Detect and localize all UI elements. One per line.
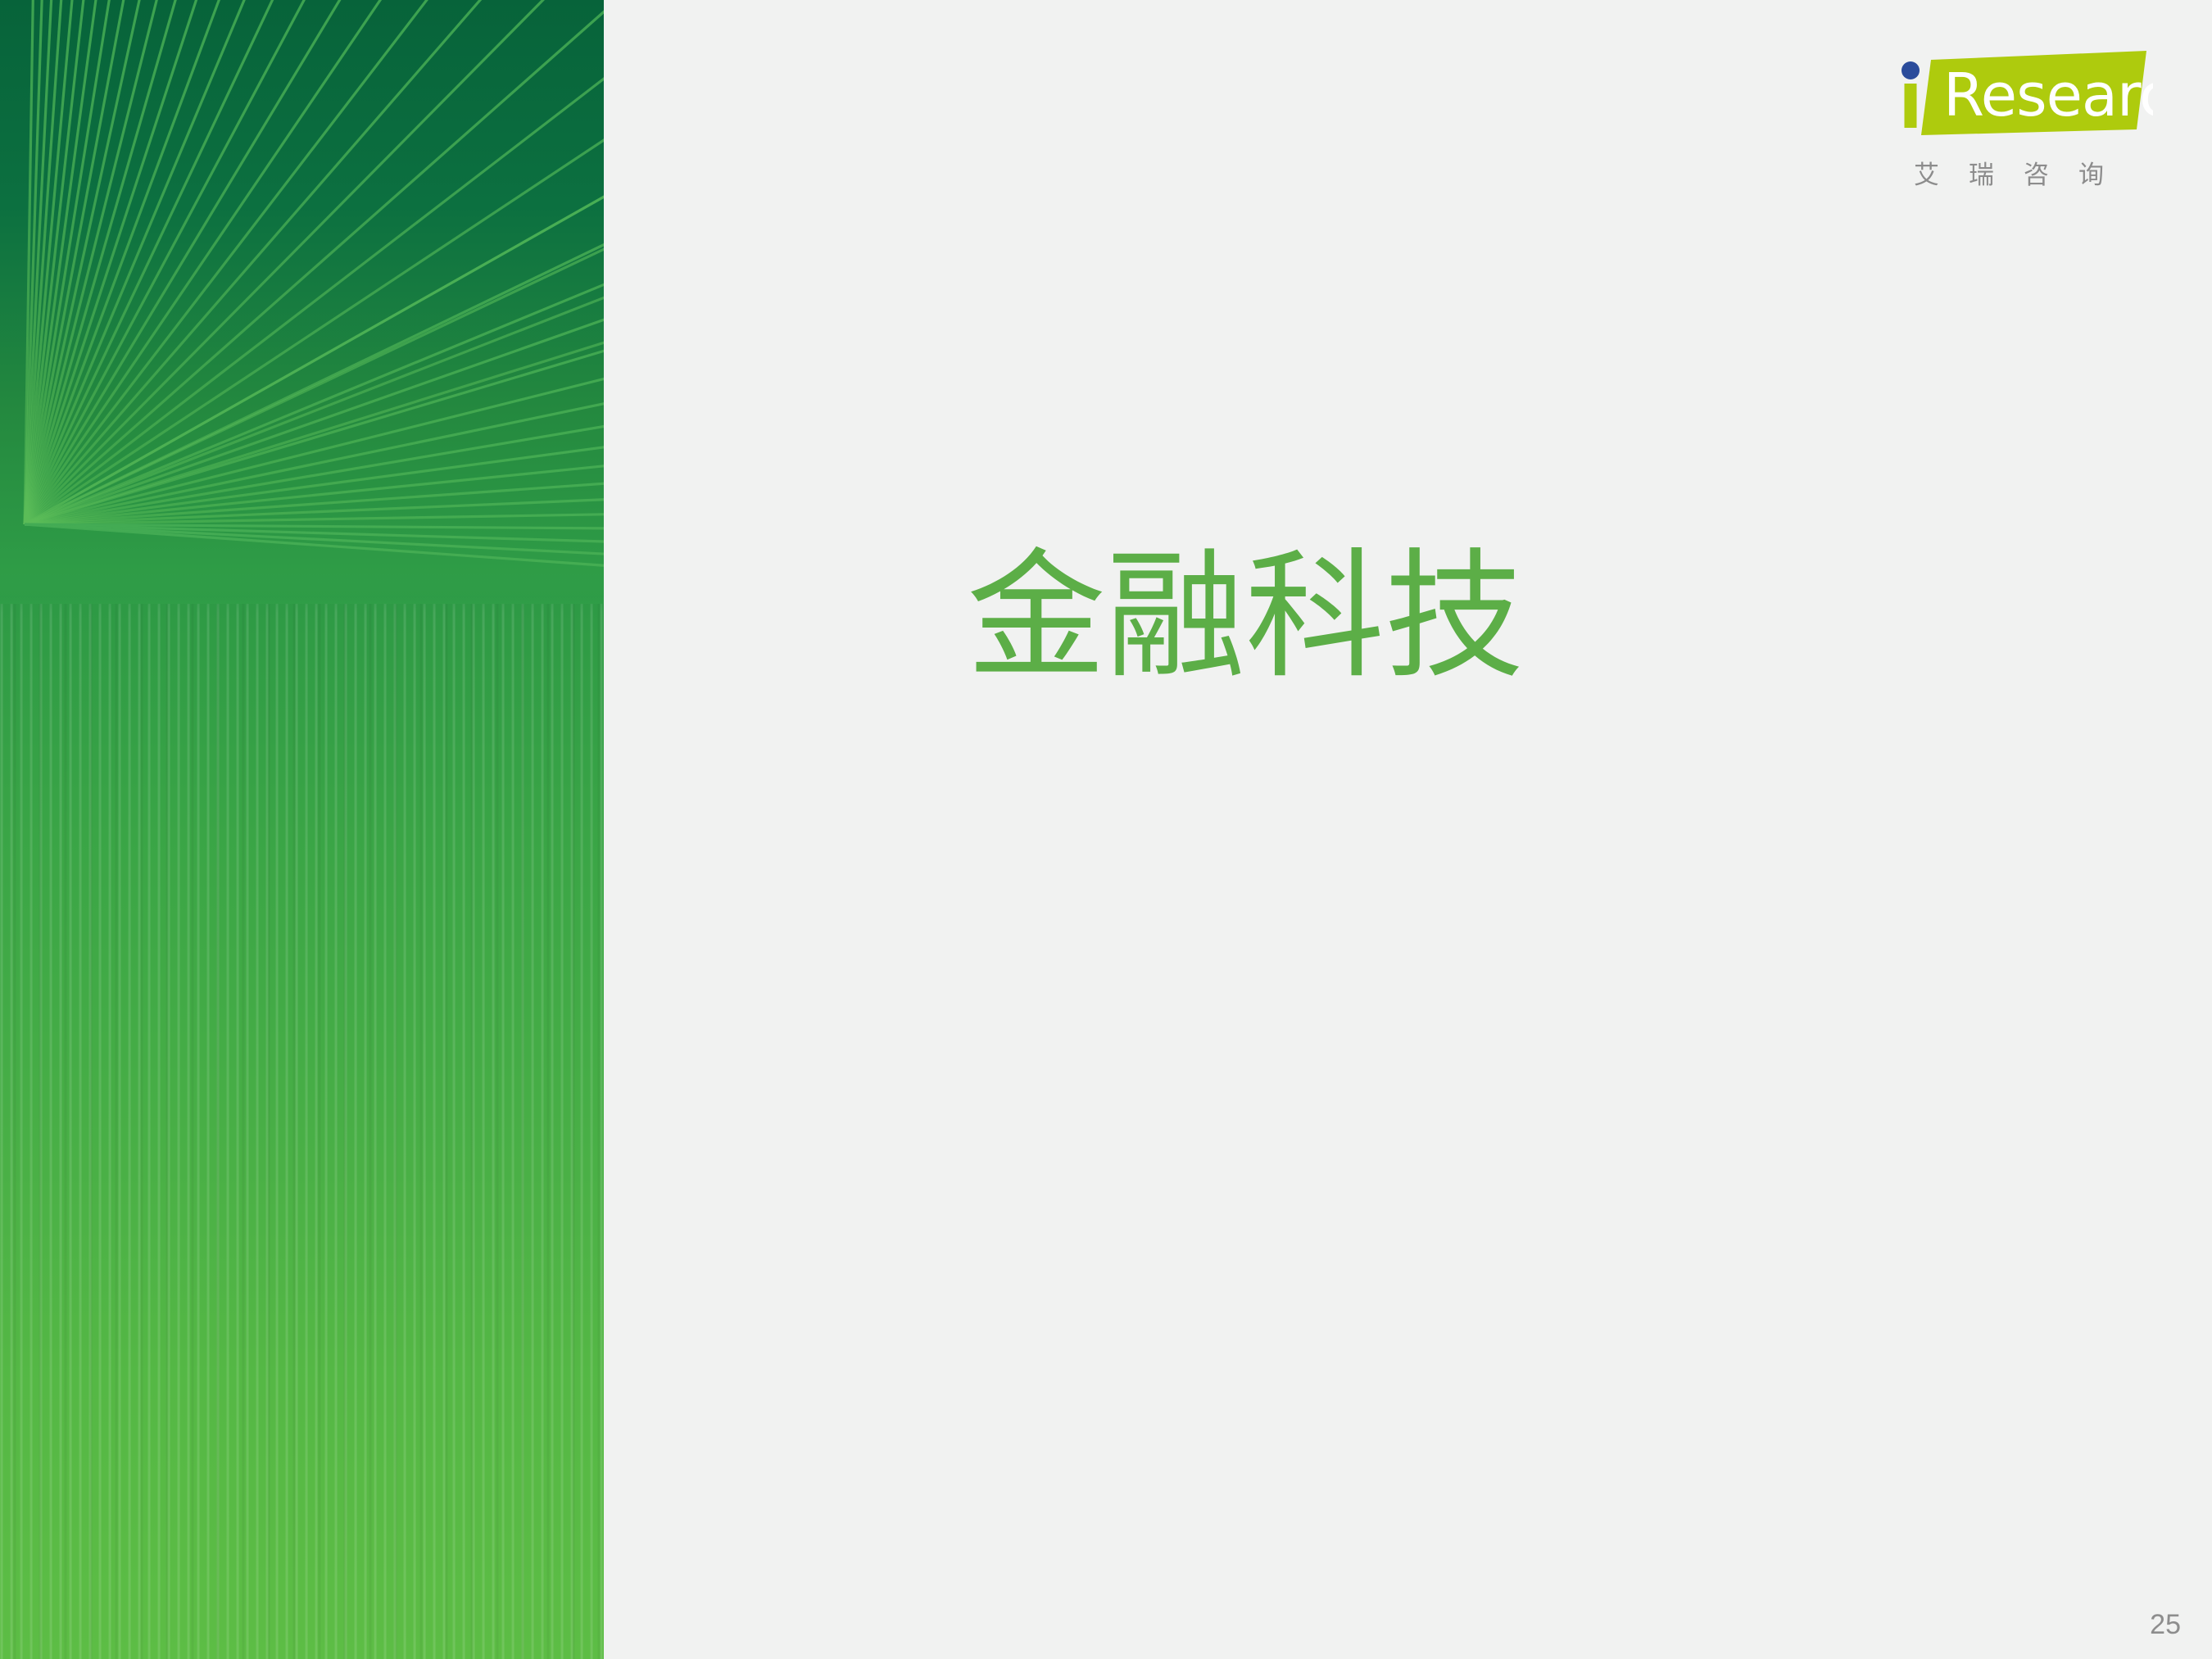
vertical-stripe-block bbox=[0, 604, 604, 1659]
svg-text:Research: Research bbox=[1943, 61, 2153, 129]
iresearch-wordmark-icon: Research bbox=[1899, 39, 2153, 142]
sunburst-block bbox=[0, 0, 604, 604]
page-title: 金融科技 bbox=[967, 547, 1524, 687]
iresearch-logo: Research 艾瑞咨询 bbox=[1899, 39, 2161, 203]
logo-subtitle: 艾瑞咨询 bbox=[1914, 154, 2156, 191]
page-number: 25 bbox=[2150, 1609, 2181, 1641]
stripe-pattern-dark bbox=[0, 604, 604, 1659]
decorative-side-panel bbox=[0, 0, 604, 1659]
sunburst-rays-icon bbox=[0, 0, 604, 604]
